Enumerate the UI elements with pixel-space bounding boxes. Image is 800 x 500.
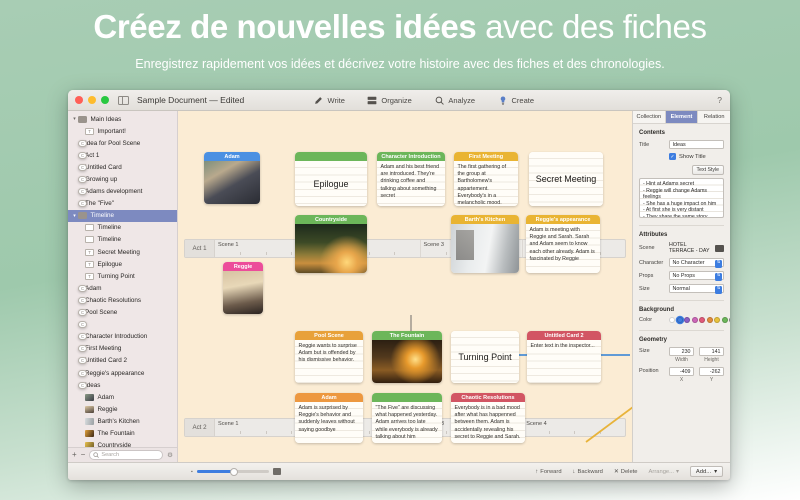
divider	[639, 330, 724, 331]
x-caption: X	[669, 377, 694, 383]
character-field-row: Character No Character⇅	[639, 258, 724, 267]
inspector-tabs[interactable]: Collection Element Relation	[633, 111, 730, 124]
sidebar-item-label: Character Introduction	[85, 333, 147, 340]
sidebar-item-first-meeting[interactable]: CFirst Meeting	[68, 343, 177, 355]
card-icon: C	[78, 370, 87, 377]
size-attr-label: Size	[639, 286, 665, 292]
color-swatches[interactable]	[669, 317, 730, 323]
card-header: Adam	[295, 393, 363, 402]
height-input[interactable]: 141	[699, 347, 724, 356]
bottom-actions: ↑Forward ↓Backward ✕Delete Arrange...▾ A…	[535, 466, 723, 477]
card-body-text: Adam is meeting with Reggie and Sarah. S…	[526, 224, 600, 273]
disclosure-triangle-icon[interactable]: ▾	[71, 213, 78, 219]
book-icon	[78, 116, 87, 123]
secret-meeting-card[interactable]: Secret Meeting	[529, 152, 603, 206]
sidebar-item-label: Epilogue	[98, 261, 123, 268]
book-icon	[78, 212, 87, 219]
width-field: 230 Width	[669, 347, 694, 363]
sidebar-item-idea-for-pool-scene[interactable]: CIdea for Pool Scene	[68, 137, 177, 149]
sidebar-item-label: Idea for Pool Scene	[85, 140, 140, 147]
card-icon: C	[78, 297, 87, 304]
text-icon: T	[85, 249, 94, 256]
card-body-text: Adam is surprised by Reggie's behavior a…	[295, 402, 363, 443]
sidebar-item-untitled-card[interactable]: CUntitled Card	[68, 161, 177, 173]
sidebar-footer: + − Search ⚙	[68, 447, 177, 462]
y-field: -262 Y	[699, 367, 724, 383]
sidebar-item-act-1[interactable]: CAct 1	[68, 149, 177, 161]
stepper-arrows-icon[interactable]: ⇅	[715, 286, 722, 294]
card-header	[295, 152, 367, 161]
sidebar-item-character-introduction[interactable]: CCharacter Introduction	[68, 331, 177, 343]
stepper-arrows-icon[interactable]: ⇅	[715, 260, 722, 268]
sidebar-item-label: Timeline	[98, 236, 122, 243]
adam-scene-card[interactable]: AdamAdam is surprised by Reggie's behavi…	[295, 393, 363, 443]
card-header: Adam	[204, 152, 260, 161]
size-select[interactable]: Normal⇅	[669, 284, 724, 293]
title-input[interactable]: Ideas	[669, 140, 724, 149]
help-button[interactable]: ?	[717, 95, 722, 105]
color-swatch[interactable]	[692, 317, 698, 323]
sidebar-item-label: Important!	[98, 128, 126, 135]
height-field: 141 Height	[699, 347, 724, 363]
width-caption: Width	[669, 357, 694, 363]
y-input[interactable]: -262	[699, 367, 724, 376]
geometry-position-row: Position -409 X -262 Y	[639, 367, 724, 383]
bottom-bar: ▪ ↑Forward ↓Backward ✕Delete Arrange...▾…	[68, 462, 730, 480]
zoom-control[interactable]: ▪	[191, 468, 311, 475]
the-five-card[interactable]: "The Five" are discussing what happened …	[372, 393, 442, 443]
geometry-size-label: Size	[639, 347, 665, 354]
sidebar-item-label: Barth's Kitchen	[98, 418, 140, 425]
geometry-size-row: Size 230 Width 141 Height	[639, 347, 724, 363]
background-section-title: Background	[639, 307, 724, 313]
canvas[interactable]: Act 2Scene 1Scene 2Scene 3Scene 4Act 1Sc…	[178, 111, 632, 462]
sidebar-item-label: Untitled Card 2	[85, 357, 127, 364]
arrange-label: Arrange...	[649, 469, 674, 475]
card-icon: C	[78, 309, 87, 316]
delete-label: Delete	[621, 469, 638, 475]
sidebar-item-label: Reggie's appearance	[85, 370, 144, 377]
sidebar-item-main-ideas[interactable]: ▾Main Ideas	[68, 113, 177, 125]
card-icon: C	[78, 345, 87, 352]
scene-field-row: Scene HOTEL TERRACE - DAY	[639, 242, 724, 254]
pool-scene-card[interactable]: Pool SceneReggie wants to surprise Adam …	[295, 331, 363, 383]
sidebar-item-label: Timeline	[98, 224, 122, 231]
promo-subhead: Enregistrez rapidement vos idées et décr…	[0, 57, 800, 71]
sidebar-item-ideas[interactable]: CIdeas	[68, 379, 177, 391]
card-icon: C	[78, 200, 87, 207]
color-swatch[interactable]	[669, 317, 675, 323]
sidebar-item-label: Ideas	[85, 382, 100, 389]
close-small-icon: ✕	[614, 469, 619, 475]
sidebar-item-the-five[interactable]: CThe "Five"	[68, 198, 177, 210]
card-header: Pool Scene	[295, 331, 363, 340]
character-label: Character	[639, 260, 665, 266]
card-icon: C	[78, 285, 87, 292]
image-reggie-icon	[85, 406, 94, 413]
toolbar-analyze-button[interactable]: Analyze	[434, 95, 475, 106]
window-controls[interactable]	[75, 96, 109, 104]
arrow-up-icon: ↑	[535, 469, 538, 475]
text-style-button[interactable]: Text Style	[692, 165, 725, 175]
x-input[interactable]: -409	[669, 367, 694, 376]
color-swatch[interactable]	[729, 317, 730, 323]
search-placeholder: Search	[101, 452, 119, 458]
props-label: Props	[639, 273, 665, 279]
sidebar-item-label: Main Ideas	[91, 116, 122, 123]
sidebar-item-timeline[interactable]: Timeline	[68, 222, 177, 234]
toolbar-organize-button[interactable]: Organize	[367, 95, 412, 106]
checkbox-icon[interactable]: ✓	[669, 153, 676, 160]
window-body: ▾Main IdeasTImportant!CIdea for Pool Sce…	[68, 111, 730, 462]
sidebar-item-label: First Meeting	[85, 345, 121, 352]
timeline-icon	[85, 236, 94, 243]
sidebar-item-timeline[interactable]: Timeline	[68, 234, 177, 246]
card-title-large: Secret Meeting	[529, 152, 603, 206]
zoom-out-icon[interactable]: ▪	[191, 469, 193, 475]
x-field: -409 X	[669, 367, 694, 383]
card-photo	[372, 340, 442, 383]
arrange-button[interactable]: Arrange...▾	[649, 469, 679, 475]
character-value: No Character	[673, 260, 705, 266]
card-photo	[451, 224, 519, 273]
color-swatch[interactable]	[722, 317, 728, 323]
card-title-large: Turning Point	[451, 331, 519, 383]
image-fountain-icon	[85, 430, 94, 437]
card-header: Chaotic Resolutions	[451, 393, 525, 402]
color-swatch[interactable]	[684, 317, 690, 323]
color-swatch[interactable]	[707, 317, 713, 323]
countryside-card[interactable]: Countryside	[295, 215, 367, 273]
notes-textarea[interactable]: - Hint at Adams secret - Reggie will cha…	[639, 178, 724, 218]
sidebar-item-untitled-17[interactable]: C	[68, 319, 177, 331]
card-icon: C	[78, 382, 87, 389]
sidebar-item-label: Reggie	[98, 406, 118, 413]
card-icon: C	[78, 152, 87, 159]
sidebar-item-label: Turning Point	[98, 273, 135, 280]
camera-icon[interactable]	[715, 245, 724, 252]
stepper-arrows-icon[interactable]: ⇅	[715, 273, 722, 281]
size-value: Normal	[673, 286, 690, 292]
divider	[639, 225, 724, 226]
toolbar-analyze-label: Analyze	[448, 96, 475, 105]
geometry-position-label: Position	[639, 367, 665, 374]
card-icon: C	[78, 333, 87, 340]
sidebar-tree[interactable]: ▾Main IdeasTImportant!CIdea for Pool Sce…	[68, 111, 177, 447]
toolbar-organize-label: Organize	[381, 96, 411, 105]
reggie-character-card[interactable]: Reggie	[223, 262, 263, 314]
show-title-label: Show Title	[679, 154, 706, 160]
card-body-text: Reggie wants to surprise Adam but is off…	[295, 340, 363, 383]
sidebar-item-label: The "Five"	[85, 200, 114, 207]
sidebar-item-label: The Fountain	[98, 430, 135, 437]
add-item-button[interactable]: +	[72, 451, 77, 459]
card-header: Character Introduction	[377, 152, 445, 161]
epilogue-card[interactable]: Epilogue	[295, 152, 367, 206]
sidebar-toggle-icon[interactable]	[118, 96, 129, 105]
zoom-in-icon[interactable]	[273, 468, 281, 475]
search-icon	[93, 452, 99, 458]
sidebar-item-countryside[interactable]: Countryside	[68, 440, 177, 447]
text-icon: T	[85, 273, 94, 280]
drawer-icon	[367, 95, 378, 106]
promo-headline: Créez de nouvelles idées avec des fiches	[0, 8, 800, 46]
sidebar-item-label: Adam	[98, 394, 114, 401]
zoom-slider-fill	[197, 470, 234, 473]
close-icon[interactable]	[75, 96, 83, 104]
turning-point-card[interactable]: Turning Point	[451, 331, 519, 383]
divider	[639, 300, 724, 301]
sidebar-item-the-fountain[interactable]: The Fountain	[68, 427, 177, 439]
sidebar-item-untitled-card-2[interactable]: CUntitled Card 2	[68, 355, 177, 367]
color-swatch[interactable]	[714, 317, 720, 323]
title-label: Title	[639, 142, 665, 148]
tab-element[interactable]: Element	[666, 111, 699, 123]
lightbulb-icon	[497, 95, 508, 106]
contents-section-title: Contents	[639, 130, 724, 136]
minimize-icon[interactable]	[88, 96, 96, 104]
card-header: Countryside	[295, 215, 367, 224]
card-icon: C	[78, 321, 87, 328]
first-meeting-card[interactable]: First MeetingThe first gathering of the …	[454, 152, 518, 206]
image-kitchen-icon	[85, 418, 94, 425]
card-header: Untitled Card 2	[527, 331, 601, 340]
card-title-large: Epilogue	[295, 161, 367, 206]
card-header: Barth's Kitchen	[451, 215, 519, 224]
chevron-down-icon: ▾	[676, 469, 679, 475]
sidebar-item-secret-meeting[interactable]: TSecret Meeting	[68, 246, 177, 258]
card-icon: C	[78, 140, 87, 147]
zoom-slider-knob[interactable]	[230, 468, 238, 476]
image-adam-icon	[85, 394, 94, 401]
remove-item-button[interactable]: −	[81, 451, 86, 459]
pen-icon	[313, 95, 324, 106]
sidebar-item-epilogue[interactable]: TEpilogue	[68, 258, 177, 270]
card-photo	[295, 224, 367, 273]
app-window: Sample Document — Edited Write Organize …	[68, 90, 730, 480]
magnifier-icon	[434, 95, 445, 106]
gear-icon[interactable]: ⚙	[167, 451, 173, 459]
sidebar-item-chaotic-resolutions[interactable]: CChaotic Resolutions	[68, 294, 177, 306]
card-photo	[204, 161, 260, 204]
backward-label: Backward	[577, 469, 602, 475]
card-body-text: Enter text in the inspector...	[527, 340, 601, 383]
toolbar: Write Organize Analyze Create	[313, 90, 534, 111]
sidebar-item-turning-point[interactable]: TTurning Point	[68, 270, 177, 282]
sidebar-item-timeline[interactable]: ▾Timeline	[68, 210, 177, 222]
chevron-down-icon: ▾	[714, 469, 717, 475]
forward-button[interactable]: ↑Forward	[535, 469, 561, 475]
scene-label: Scene	[639, 245, 665, 251]
toolbar-create-button[interactable]: Create	[497, 95, 534, 106]
card-header	[372, 393, 442, 402]
props-value: No Props	[673, 273, 695, 279]
zoom-slider[interactable]	[197, 470, 269, 473]
scene-value[interactable]: HOTEL TERRACE - DAY	[669, 242, 711, 254]
sidebar-item-pool-scene[interactable]: CPool Scene	[68, 307, 177, 319]
forward-label: Forward	[540, 469, 561, 475]
timeline-icon	[85, 224, 94, 231]
toolbar-create-label: Create	[512, 96, 535, 105]
props-field-row: Props No Props⇅	[639, 271, 724, 280]
sidebar-item-adam[interactable]: Adam	[68, 391, 177, 403]
zoom-icon[interactable]	[101, 96, 109, 104]
y-caption: Y	[699, 377, 724, 383]
search-input[interactable]: Search	[89, 450, 163, 460]
title-field-row: Title Ideas	[639, 140, 724, 149]
card-body-text: The first gathering of the group at Bart…	[454, 161, 518, 206]
sidebar-item-label: Act 1	[85, 152, 99, 159]
sidebar-item-label: Growing up	[85, 176, 117, 183]
sidebar-item-label: Chaotic Resolutions	[85, 297, 141, 304]
sidebar-item-label: Adam	[85, 285, 101, 292]
card-header: Reggie	[223, 262, 263, 271]
sidebar-item-label: Timeline	[91, 212, 115, 219]
color-swatch[interactable]	[699, 317, 705, 323]
card-icon: C	[78, 176, 87, 183]
card-header: The Fountain	[372, 331, 442, 340]
disclosure-triangle-icon[interactable]: ▾	[71, 116, 78, 122]
height-caption: Height	[699, 357, 724, 363]
sidebar-item-important[interactable]: TImportant!	[68, 125, 177, 137]
background-color-label: Color	[639, 317, 665, 323]
sidebar-item-growing-up[interactable]: CGrowing up	[68, 173, 177, 185]
backward-button[interactable]: ↓Backward	[573, 469, 603, 475]
geometry-section-title: Geometry	[639, 337, 724, 343]
reggies-appearance-card[interactable]: Reggie's appearanceAdam is meeting with …	[526, 215, 600, 273]
text-icon: T	[85, 128, 94, 135]
toolbar-write-label: Write	[328, 96, 345, 105]
background-color-row: Color	[639, 317, 724, 323]
promo-headline-bold: Créez de nouvelles idées	[93, 8, 476, 45]
sidebar-item-label: Untitled Card	[85, 164, 122, 171]
arrow-down-icon: ↓	[573, 469, 576, 475]
character-select[interactable]: No Character⇅	[669, 258, 724, 267]
props-select[interactable]: No Props⇅	[669, 271, 724, 280]
title-bar: Sample Document — Edited Write Organize …	[68, 90, 730, 111]
chaotic-resolutions-card[interactable]: Chaotic ResolutionsEverybody is in a bad…	[451, 393, 525, 443]
sidebar-item-label: Adams development	[85, 188, 142, 195]
adam-character-card[interactable]: Adam	[204, 152, 260, 204]
sidebar-item-label: Secret Meeting	[98, 249, 140, 256]
tab-collection[interactable]: Collection	[633, 111, 666, 123]
attributes-section-title: Attributes	[639, 232, 724, 238]
card-body-text: Adam and his best friend are introduced.…	[377, 161, 445, 206]
show-title-checkbox-row[interactable]: ✓ Show Title	[669, 153, 724, 160]
barths-kitchen-card[interactable]: Barth's Kitchen	[451, 215, 519, 273]
sidebar-item-reggie[interactable]: Reggie	[68, 403, 177, 415]
sidebar: ▾Main IdeasTImportant!CIdea for Pool Sce…	[68, 111, 178, 462]
sidebar-item-reggie-s-appearance[interactable]: CReggie's appearance	[68, 367, 177, 379]
size-field-row: Size Normal⇅	[639, 284, 724, 293]
card-header: First Meeting	[454, 152, 518, 161]
size-inputs: 230 Width 141 Height	[669, 347, 724, 363]
inspector-panel: Collection Element Relation Contents Tit…	[632, 111, 730, 462]
add-button[interactable]: Add...▾	[690, 466, 723, 477]
document-title: Sample Document — Edited	[137, 95, 244, 105]
card-icon: C	[78, 188, 87, 195]
sidebar-item-adams-development[interactable]: CAdams development	[68, 186, 177, 198]
promo-headline-rest: avec des fiches	[476, 8, 706, 45]
untitled-card-2[interactable]: Untitled Card 2Enter text in the inspect…	[527, 331, 601, 383]
color-swatch[interactable]	[677, 317, 683, 323]
delete-button[interactable]: ✕Delete	[614, 469, 638, 475]
card-icon: C	[78, 164, 87, 171]
width-input[interactable]: 230	[669, 347, 694, 356]
the-fountain-card[interactable]: The Fountain	[372, 331, 442, 383]
inspector-content: Contents Title Ideas ✓ Show Title Text S…	[633, 124, 730, 387]
card-body-text: Everybody is in a bad mood after what ha…	[451, 402, 525, 443]
text-icon: T	[85, 261, 94, 268]
sidebar-item-barth-s-kitchen[interactable]: Barth's Kitchen	[68, 415, 177, 427]
card-header: Reggie's appearance	[526, 215, 600, 224]
toolbar-write-button[interactable]: Write	[313, 95, 345, 106]
position-inputs: -409 X -262 Y	[669, 367, 724, 383]
tab-relation[interactable]: Relation	[698, 111, 730, 123]
character-introduction-card[interactable]: Character IntroductionAdam and his best …	[377, 152, 445, 206]
card-body-text: "The Five" are discussing what happened …	[372, 402, 442, 443]
sidebar-item-label: Pool Scene	[85, 309, 117, 316]
card-photo	[223, 271, 263, 314]
add-label: Add...	[696, 469, 711, 475]
promo-banner: Créez de nouvelles idées avec des fiches…	[0, 8, 800, 71]
sidebar-item-adam[interactable]: CAdam	[68, 282, 177, 294]
